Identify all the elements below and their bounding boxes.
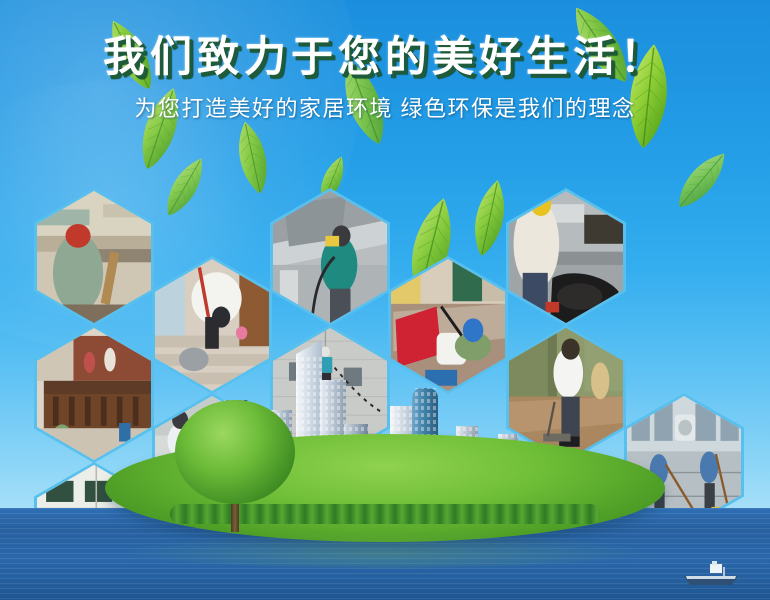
page-subtitle: 为您打造美好的家居环境 绿色环保是我们的理念 (0, 98, 770, 120)
promo-banner: 我们致力于您的美好生活！ 为您打造美好的家居环境 绿色环保是我们的理念 (0, 0, 770, 600)
hex-photo (37, 191, 151, 323)
hex-photo (509, 191, 623, 323)
leaf-mid-field-icon (413, 190, 470, 228)
island-reflection (125, 532, 645, 568)
island-tree (175, 400, 295, 530)
leaf-mid-drop-icon (324, 151, 354, 176)
leaf-center-small-icon (177, 149, 216, 183)
hex-tile-kitchen-hood[interactable] (506, 188, 626, 326)
leaf-right-upper-icon (697, 141, 739, 181)
boat-icon (680, 560, 742, 590)
hex-tile-duct-cleaning[interactable] (270, 188, 390, 326)
eco-city-island (0, 385, 770, 600)
tree-crown (175, 400, 295, 504)
hex-tile-carpenter-worktable[interactable] (34, 188, 154, 326)
hex-photo (273, 191, 387, 323)
page-title: 我们致力于您的美好生活！ (0, 36, 770, 78)
